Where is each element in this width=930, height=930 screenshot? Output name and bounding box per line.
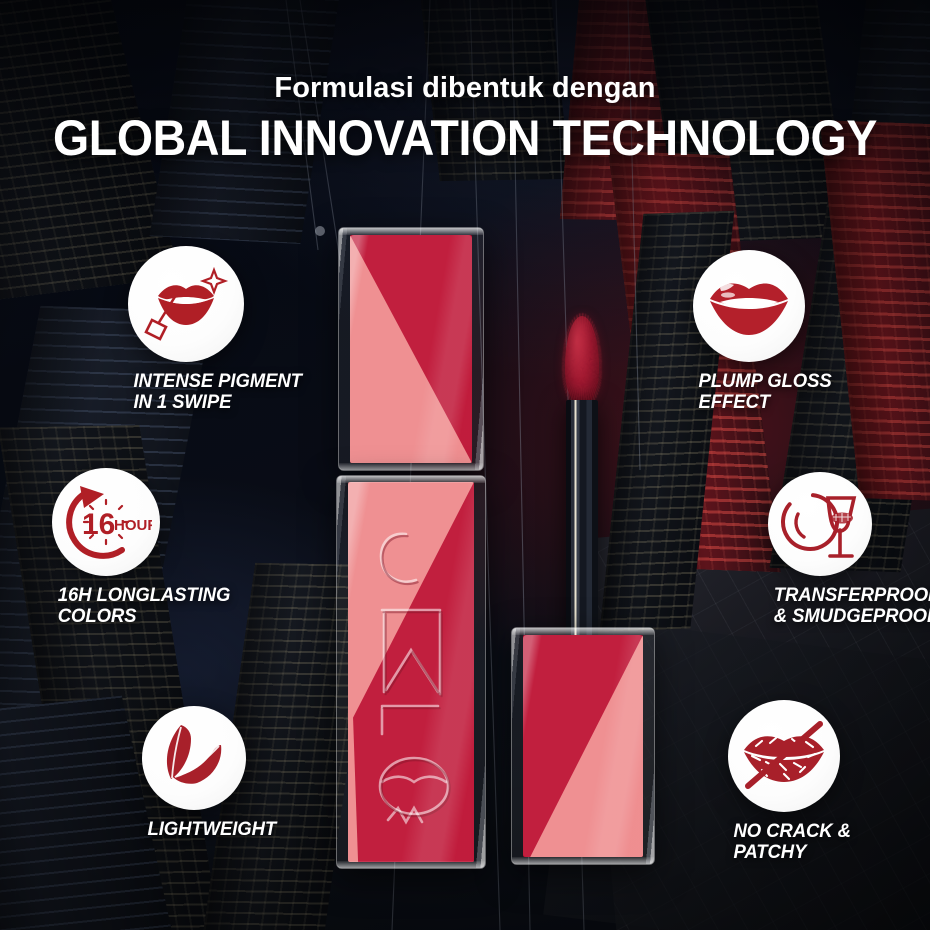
product-applicator-wand bbox=[566, 318, 598, 640]
feature-label: TRANSFERPROOF & SMUDGEPROOF bbox=[774, 585, 930, 627]
cap-bottom-edge bbox=[339, 463, 483, 470]
feature-badge bbox=[728, 700, 840, 812]
feature-plump-gloss: PLUMP GLOSS EFFECT bbox=[693, 250, 913, 413]
short-tube-top-edge bbox=[512, 628, 654, 635]
feature-label: INTENSE PIGMENT IN 1 SWIPE bbox=[134, 371, 343, 413]
cracked-lips-crossed-out-icon bbox=[736, 708, 832, 804]
lips-with-applicator-wand-icon bbox=[140, 258, 232, 350]
feature-label: PLUMP GLOSS EFFECT bbox=[699, 371, 908, 413]
feature-no-crack: NO CRACK & PATCHY bbox=[728, 700, 930, 863]
applicator-stem bbox=[566, 400, 598, 640]
arrow-head bbox=[80, 486, 104, 508]
gloss-highlight bbox=[721, 292, 735, 297]
short-tube-color-panel bbox=[523, 635, 643, 857]
feature-lightweight: LIGHTWEIGHT bbox=[142, 706, 362, 840]
feature-label: 16H LONGLASTING COLORS bbox=[58, 585, 277, 627]
product-cap bbox=[339, 228, 483, 470]
body-top-edge bbox=[337, 476, 485, 483]
feature-badge bbox=[142, 706, 246, 810]
banner-canvas: Formulasi dibentuk dengan GLOBAL INNOVAT… bbox=[0, 0, 930, 930]
cup-and-wine-glass-no-lipmark-icon bbox=[776, 480, 864, 568]
feature-label: LIGHTWEIGHT bbox=[148, 819, 357, 840]
applicator-tip bbox=[565, 316, 599, 404]
embossed-brand-logo bbox=[348, 482, 474, 862]
body-color-panel bbox=[348, 482, 474, 862]
clock-unit: HOURS bbox=[114, 517, 152, 534]
glossy-lips-icon bbox=[702, 259, 796, 353]
feature-badge bbox=[128, 246, 244, 362]
cap-color-panel bbox=[350, 235, 472, 463]
cap-top-edge bbox=[339, 228, 483, 235]
clock-16-hours-icon: 16 HOURS bbox=[60, 476, 152, 568]
feature-badge bbox=[693, 250, 805, 362]
short-tube-bottom-edge bbox=[512, 857, 654, 864]
clock-number: 16 bbox=[82, 508, 115, 541]
feature-badge: 16 HOURS bbox=[52, 468, 160, 576]
headline-block: Formulasi dibentuk dengan GLOBAL INNOVAT… bbox=[0, 72, 930, 167]
feature-label: NO CRACK & PATCHY bbox=[734, 821, 930, 863]
feature-intense-pigment: INTENSE PIGMENT IN 1 SWIPE bbox=[128, 246, 348, 413]
page-title: GLOBAL INNOVATION TECHNOLOGY bbox=[33, 109, 898, 167]
product-short-tube bbox=[512, 628, 654, 864]
feature-longlasting: 16 HOURS 16H LONGLASTING COLORS bbox=[52, 468, 282, 627]
feature-transferproof: TRANSFERPROOF & SMUDGEPROOF bbox=[768, 472, 930, 627]
body-bottom-edge bbox=[337, 861, 485, 868]
feature-badge bbox=[768, 472, 872, 576]
two-feathers-icon bbox=[151, 715, 237, 801]
subheadline: Formulasi dibentuk dengan bbox=[0, 72, 930, 105]
